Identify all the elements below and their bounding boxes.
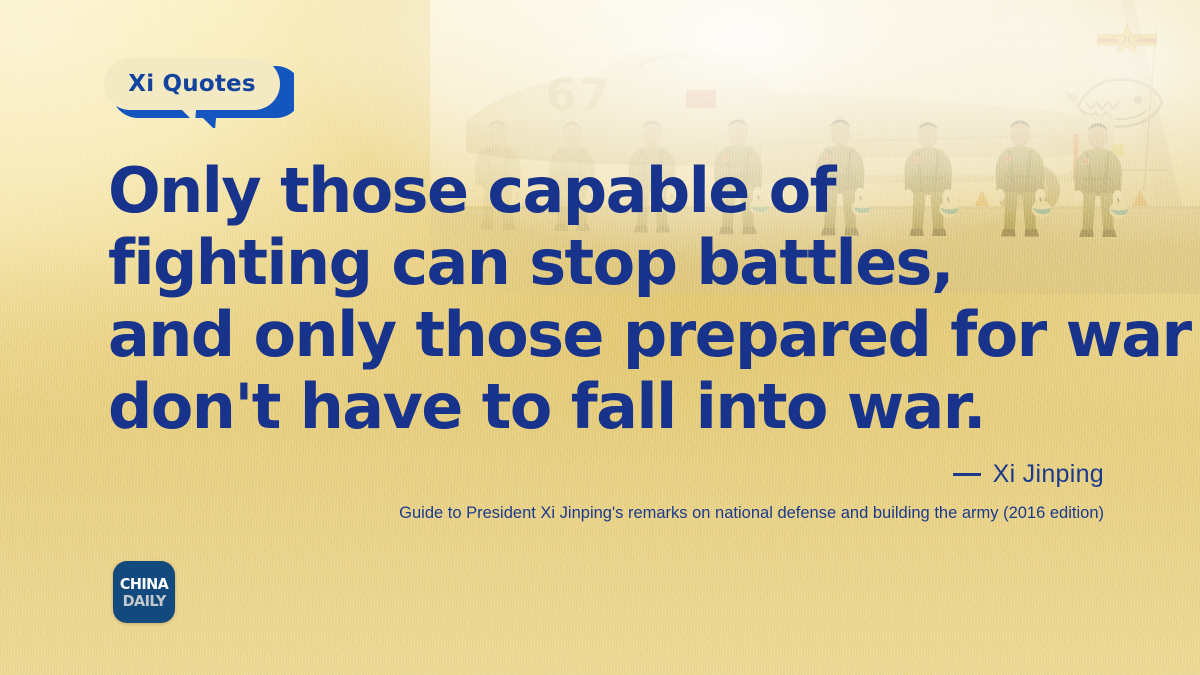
logo-text-daily: DAILY	[122, 593, 165, 609]
logo-text-china: CHINA	[120, 576, 168, 592]
quote-source: Guide to President Xi Jinping's remarks …	[399, 504, 1104, 523]
em-dash-icon	[953, 473, 981, 476]
xi-quotes-badge[interactable]: Xi Quotes	[104, 58, 294, 128]
quote-text: Only those capable of fighting can stop …	[108, 155, 1178, 443]
xi-quotes-badge-label: Xi Quotes	[104, 58, 280, 110]
quote-line-4: don't have to fall into war.	[108, 371, 1178, 443]
quote-line-1: Only those capable of	[108, 155, 1178, 227]
quote-line-3: and only those prepared for war	[108, 299, 1178, 371]
attribution-author: Xi Jinping	[993, 460, 1104, 489]
quote-attribution: Xi Jinping	[953, 460, 1104, 489]
quote-line-2: fighting can stop battles,	[108, 227, 1178, 299]
quote-poster: 八	[0, 0, 1200, 675]
china-daily-logo[interactable]: CHINA DAILY	[113, 561, 175, 623]
